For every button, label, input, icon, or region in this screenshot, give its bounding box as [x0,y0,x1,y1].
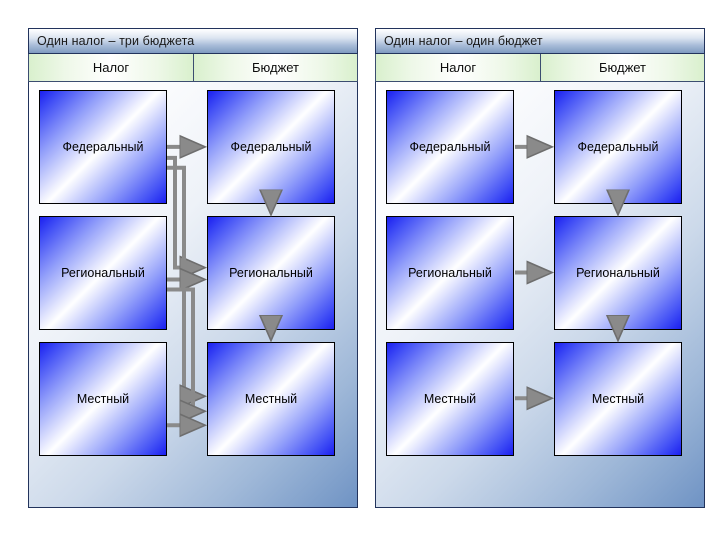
column-header-tax-left: Налог [29,54,193,81]
diagram-panel-one-tax-one-budget: Один налог – один бюджет Налог Бюджет Фе… [375,28,705,508]
arrow-fed-to-regional-left [167,158,202,268]
panel-body-right: Федеральный Региональный Местный Федерал… [375,82,705,508]
node-tax-local-right: Местный [386,342,514,456]
panel-title-right: Один налог – один бюджет [375,28,705,54]
panel-title-left: Один налог – три бюджета [28,28,358,54]
node-tax-federal-right: Федеральный [386,90,514,204]
column-header-tax-right: Налог [376,54,540,81]
column-header-budget-left: Бюджет [193,54,357,81]
node-tax-regional-left: Региональный [39,216,167,330]
arrow-fed-to-local-left [167,168,202,396]
node-tax-federal-left: Федеральный [39,90,167,204]
node-budget-regional-left: Региональный [207,216,335,330]
diagram-panel-one-tax-three-budgets: Один налог – три бюджета Налог Бюджет Фе… [28,28,358,508]
column-header-row-right: Налог Бюджет [375,54,705,82]
node-budget-federal-left: Федеральный [207,90,335,204]
node-tax-local-left: Местный [39,342,167,456]
node-budget-regional-right: Региональный [554,216,682,330]
column-header-budget-right: Бюджет [540,54,704,81]
node-budget-local-right: Местный [554,342,682,456]
panel-body-left: Федеральный Региональный Местный Федерал… [28,82,358,508]
node-budget-local-left: Местный [207,342,335,456]
column-header-row-left: Налог Бюджет [28,54,358,82]
node-tax-regional-right: Региональный [386,216,514,330]
arrow-regional-to-local-left [167,290,202,412]
node-budget-federal-right: Федеральный [554,90,682,204]
